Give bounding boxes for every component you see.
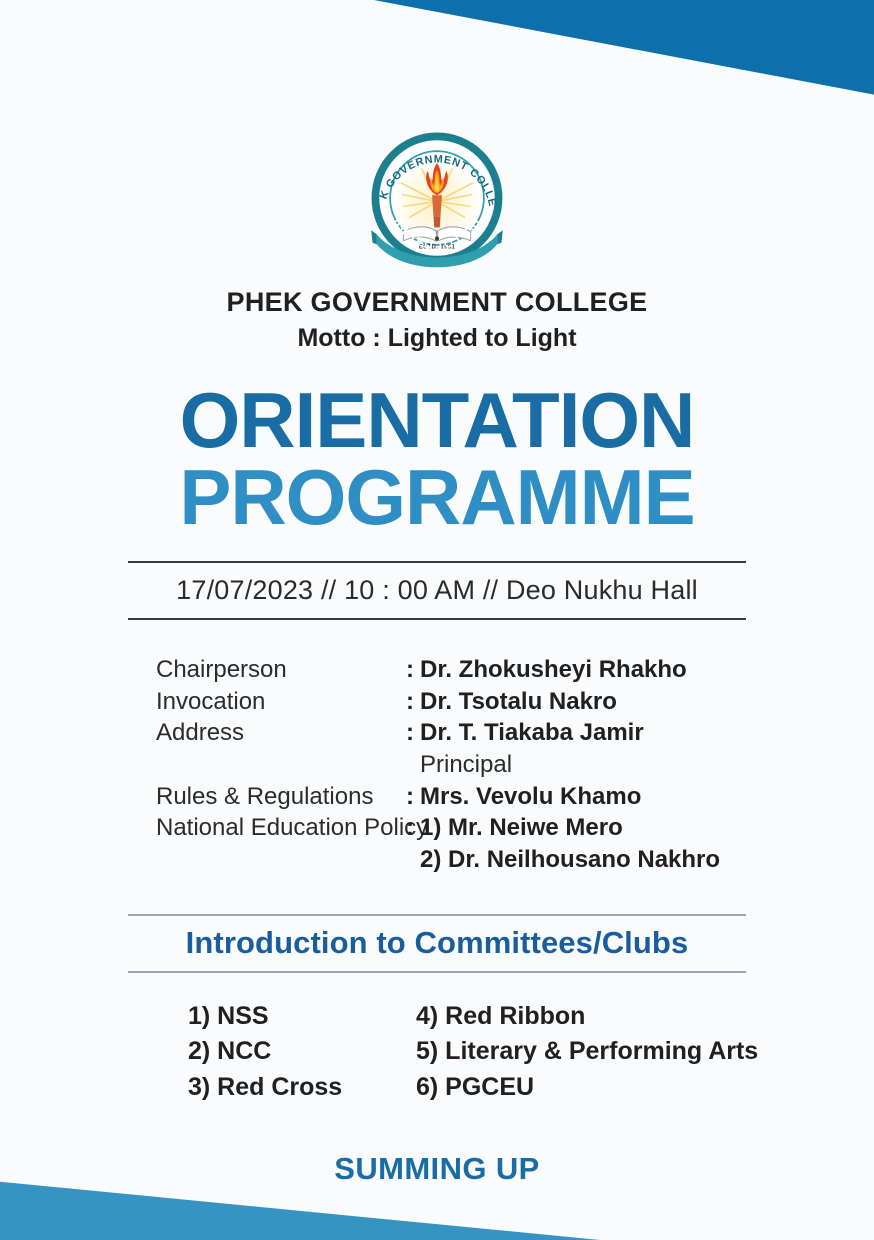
- college-motto: Motto : Lighted to Light: [0, 322, 874, 355]
- club-item: 2) NCC: [188, 1034, 416, 1070]
- poster-canvas: PHEK GOVERNMENT COLLEGE ESTD. 1981 LIGHT…: [0, 0, 874, 1240]
- programme-item-value: Dr. Zhokusheyi Rhakho: [420, 654, 687, 686]
- summing-up-heading: SUMMING UP: [0, 1151, 874, 1187]
- programme-row: Address : Dr. T. Tiakaba Jamir: [156, 717, 746, 749]
- clubs-list: 1) NSS 2) NCC 3) Red Cross 4) Red Ribbon…: [128, 999, 746, 1106]
- clubs-column-right: 4) Red Ribbon 5) Literary & Performing A…: [416, 999, 758, 1106]
- programme-item-colon: :: [406, 781, 420, 813]
- club-item: 5) Literary & Performing Arts: [416, 1034, 758, 1070]
- club-item: 3) Red Cross: [188, 1070, 416, 1106]
- programme-item-colon: :: [406, 654, 420, 686]
- programme-item-label: National Education Policy: [156, 812, 406, 844]
- poster-content: PHEK GOVERNMENT COLLEGE ESTD. 1981 LIGHT…: [0, 0, 874, 1187]
- programme-item-value: Dr. Tsotalu Nakro: [420, 686, 617, 718]
- programme-subrow-spacer: [156, 749, 420, 781]
- programme-item-colon: :: [406, 686, 420, 718]
- programme-row: Invocation : Dr. Tsotalu Nakro: [156, 686, 746, 718]
- club-item: 6) PGCEU: [416, 1070, 758, 1106]
- committees-section-title: Introduction to Committees/Clubs: [0, 916, 874, 971]
- clubs-column-left: 1) NSS 2) NCC 3) Red Cross: [188, 999, 416, 1106]
- programme-item-label: Invocation: [156, 686, 406, 718]
- event-details-text: 17/07/2023 // 10 : 00 AM // Deo Nukhu Ha…: [0, 563, 874, 618]
- programme-row: Chairperson : Dr. Zhokusheyi Rhakho: [156, 654, 746, 686]
- programme-item-second-speaker: 2) Dr. Neilhousano Nakhro: [420, 844, 720, 876]
- programme-item-label: Chairperson: [156, 654, 406, 686]
- divider-below-event-details: [128, 618, 746, 620]
- programme-subrow: Principal: [156, 749, 746, 781]
- programme-item-value: 1) Mr. Neiwe Mero: [420, 812, 623, 844]
- page-title: ORIENTATION PROGRAMME: [0, 382, 874, 535]
- programme-item-label: Rules & Regulations: [156, 781, 406, 813]
- club-item: 1) NSS: [188, 999, 416, 1035]
- programme-subrow-spacer: [156, 844, 420, 876]
- title-line-programme: PROGRAMME: [0, 459, 874, 535]
- programme-item-value: Dr. T. Tiakaba Jamir: [420, 717, 644, 749]
- programme-row: National Education Policy : 1) Mr. Neiwe…: [156, 812, 746, 844]
- programme-item-label: Address: [156, 717, 406, 749]
- programme-item-colon: :: [406, 717, 420, 749]
- club-item: 4) Red Ribbon: [416, 999, 758, 1035]
- divider-below-committees-title: [128, 971, 746, 973]
- event-details-bar: 17/07/2023 // 10 : 00 AM // Deo Nukhu Ha…: [0, 561, 874, 620]
- programme-item-designation: Principal: [420, 749, 512, 781]
- logo-container: PHEK GOVERNMENT COLLEGE ESTD. 1981 LIGHT…: [0, 0, 874, 268]
- college-seal-icon: PHEK GOVERNMENT COLLEGE ESTD. 1981 LIGHT…: [367, 128, 507, 268]
- committees-section: Introduction to Committees/Clubs 1) NSS …: [0, 914, 874, 1106]
- programme-row: Rules & Regulations : Mrs. Vevolu Khamo: [156, 781, 746, 813]
- programme-item-value: Mrs. Vevolu Khamo: [420, 781, 641, 813]
- title-line-orientation: ORIENTATION: [0, 382, 874, 458]
- college-identity-block: PHEK GOVERNMENT COLLEGE Motto : Lighted …: [0, 286, 874, 354]
- programme-item-colon: :: [406, 812, 420, 844]
- college-name: PHEK GOVERNMENT COLLEGE: [0, 286, 874, 320]
- programme-list: Chairperson : Dr. Zhokusheyi Rhakho Invo…: [128, 654, 746, 876]
- programme-subrow: 2) Dr. Neilhousano Nakhro: [156, 844, 746, 876]
